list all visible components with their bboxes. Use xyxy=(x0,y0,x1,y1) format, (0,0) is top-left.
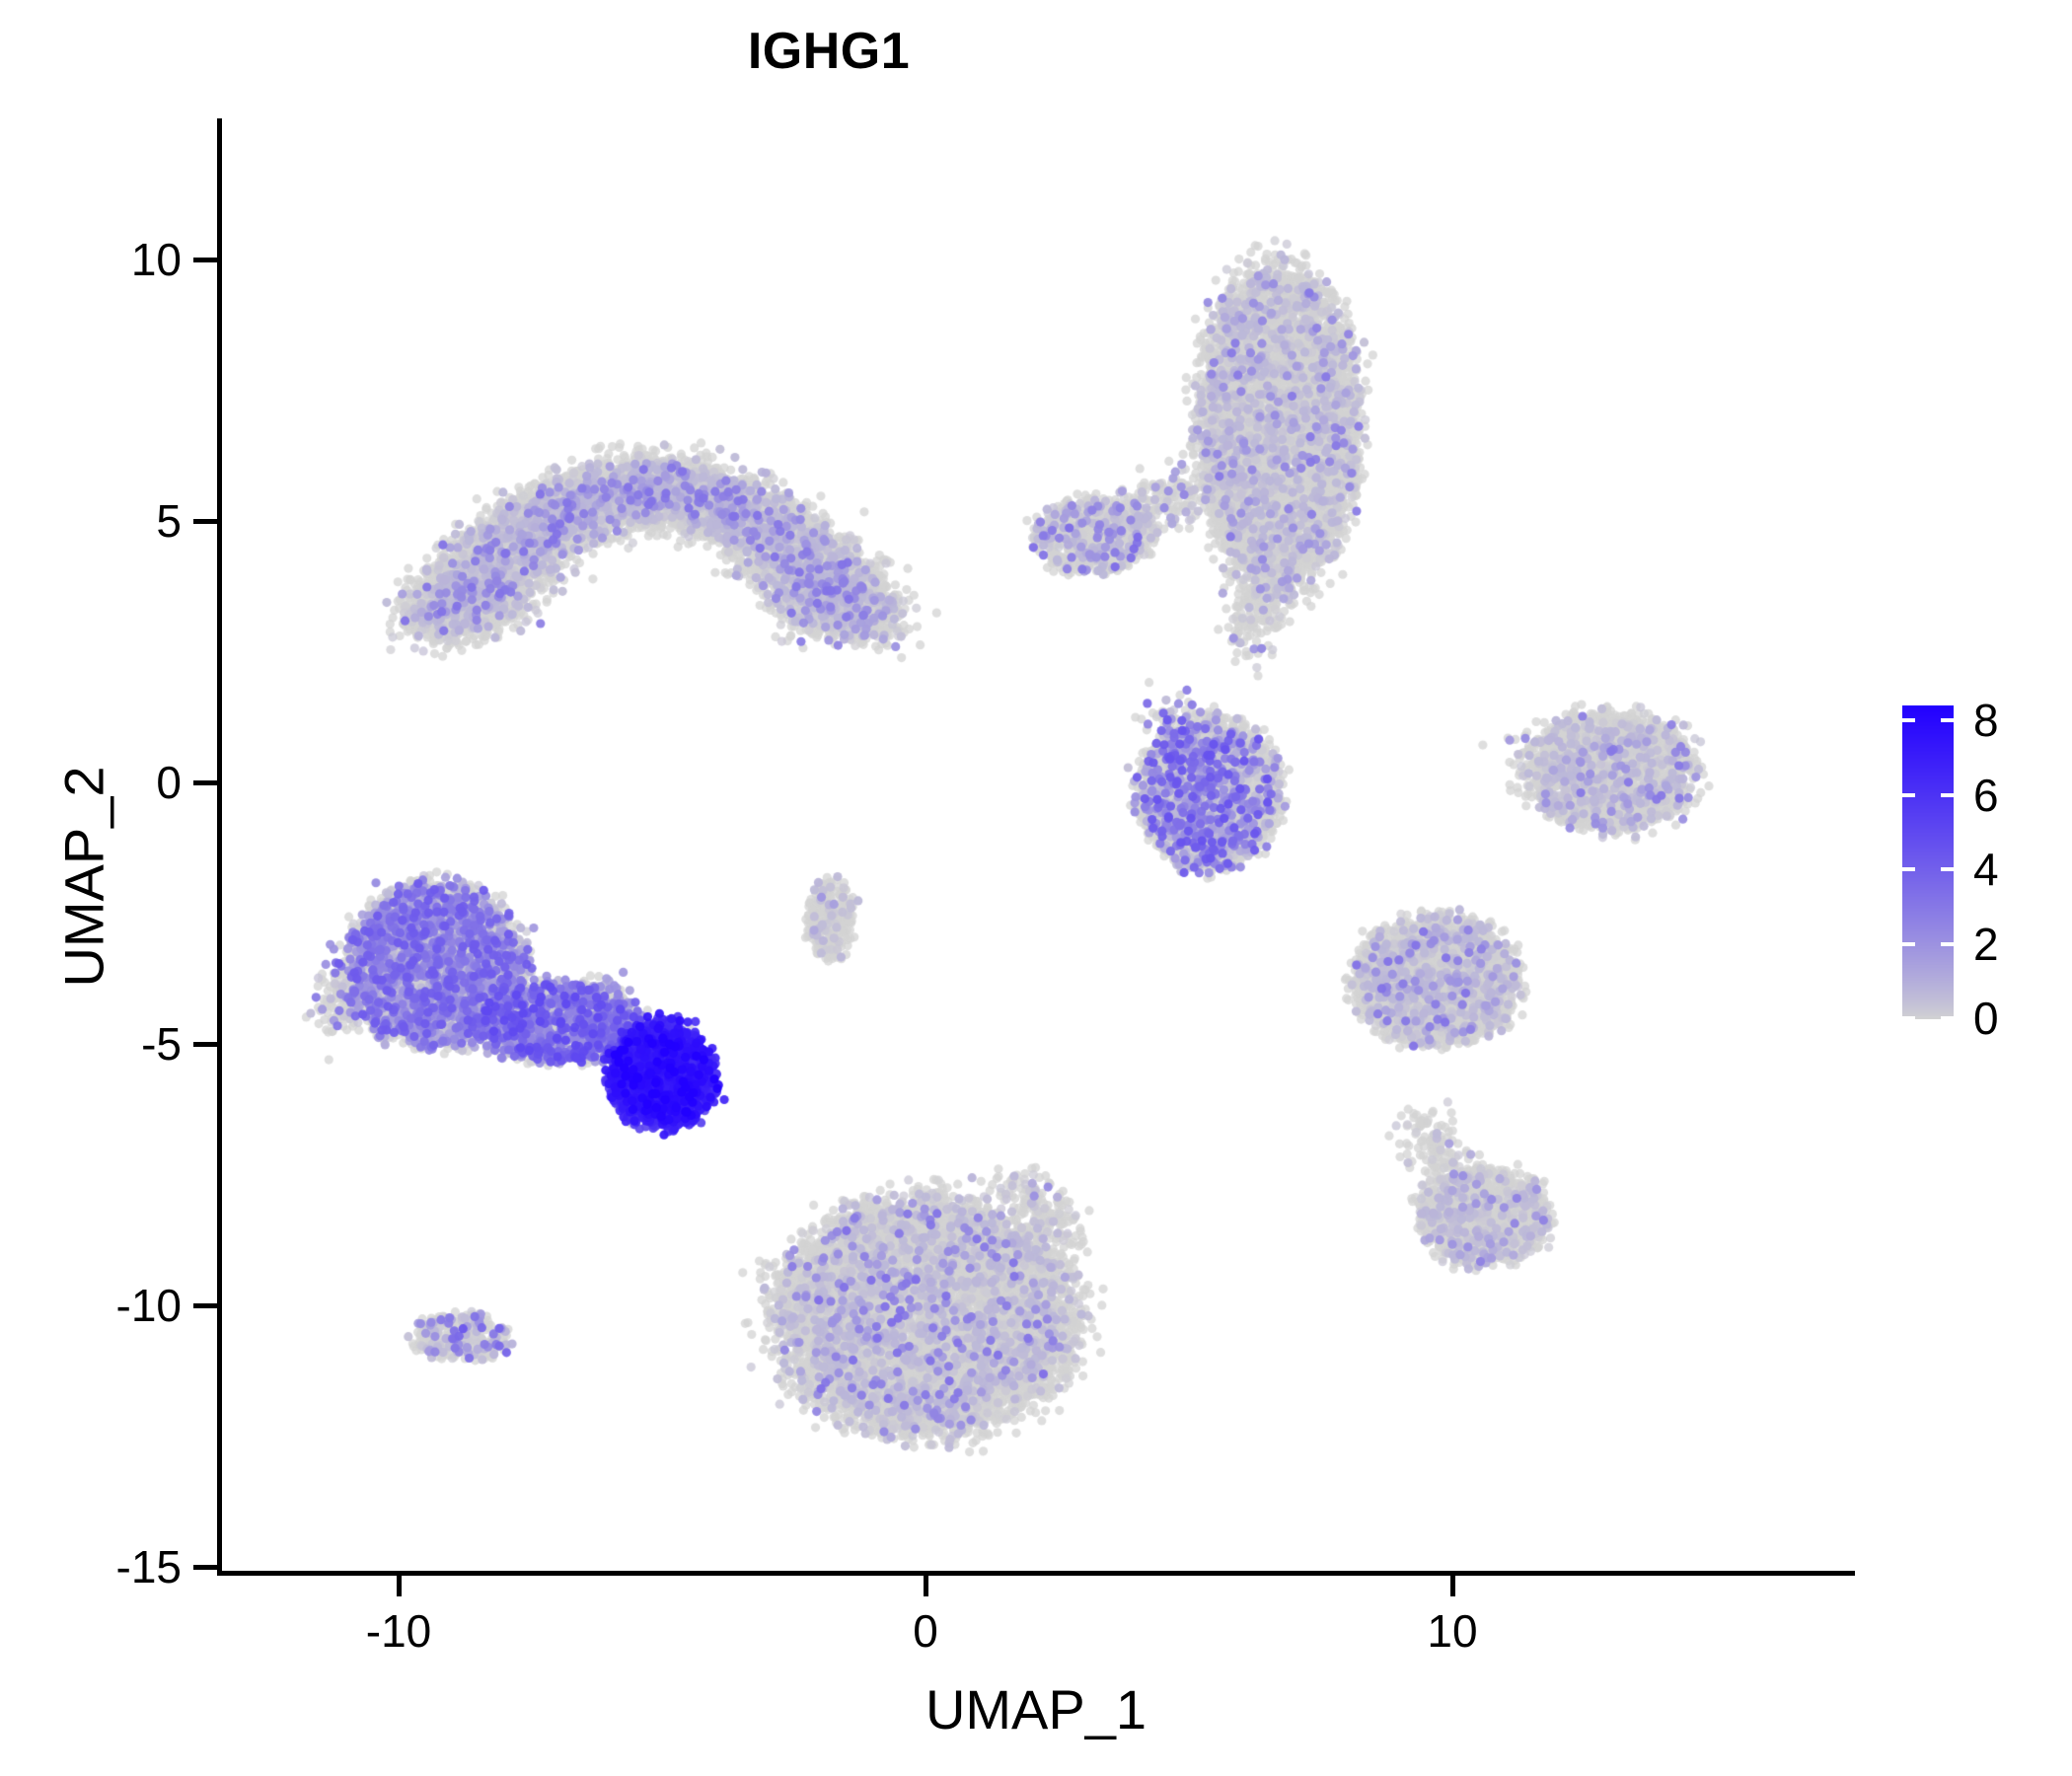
colorbar-tick-label: 4 xyxy=(1973,843,1999,896)
colorbar-tick-label: 0 xyxy=(1973,992,1999,1045)
x-tick-mark xyxy=(924,1571,928,1596)
colorbar-tick-mark xyxy=(1902,867,1915,871)
x-tick-mark xyxy=(397,1571,402,1596)
colorbar-gradient xyxy=(1902,705,1954,1019)
y-tick-mark xyxy=(193,1303,219,1308)
colorbar-tick-label: 2 xyxy=(1973,918,1999,971)
colorbar-tick-mark xyxy=(1902,1016,1915,1020)
x-tick-mark xyxy=(1450,1571,1455,1596)
x-tick-label: 0 xyxy=(913,1604,938,1658)
y-tick-label: -15 xyxy=(116,1540,182,1593)
y-tick-label: -10 xyxy=(116,1279,182,1332)
colorbar-tick-mark xyxy=(1941,1016,1954,1020)
x-axis-line xyxy=(217,1571,1855,1576)
colorbar-tick-mark xyxy=(1902,718,1915,722)
y-tick-label: 5 xyxy=(156,494,182,548)
colorbar-tick-label: 6 xyxy=(1973,769,1999,822)
scatter-canvas xyxy=(0,0,2072,1776)
y-axis-title: UMAP_2 xyxy=(52,532,116,1222)
y-tick-mark xyxy=(193,519,219,524)
colorbar-tick-mark xyxy=(1902,942,1915,946)
colorbar-tick-mark xyxy=(1902,793,1915,797)
y-tick-label: -5 xyxy=(141,1017,182,1071)
colorbar-tick-mark xyxy=(1941,867,1954,871)
x-tick-label: -10 xyxy=(366,1604,431,1658)
umap-feature-plot: IGHG1 1050-5-10-15 -10010 UMAP_2 UMAP_1 … xyxy=(0,0,2072,1776)
x-axis-title: UMAP_1 xyxy=(217,1677,1855,1741)
y-tick-label: 0 xyxy=(156,756,182,809)
y-tick-label: 10 xyxy=(131,233,182,286)
y-tick-mark xyxy=(193,780,219,785)
colorbar-tick-label: 8 xyxy=(1973,694,1999,747)
x-tick-label: 10 xyxy=(1427,1604,1477,1658)
y-tick-mark xyxy=(193,1042,219,1047)
colorbar-tick-mark xyxy=(1941,942,1954,946)
y-axis-line xyxy=(217,118,222,1571)
colorbar-tick-mark xyxy=(1941,793,1954,797)
plot-canvas-area xyxy=(0,0,2072,1776)
y-tick-mark xyxy=(193,258,219,262)
colorbar-tick-mark xyxy=(1941,718,1954,722)
y-tick-mark xyxy=(193,1565,219,1570)
